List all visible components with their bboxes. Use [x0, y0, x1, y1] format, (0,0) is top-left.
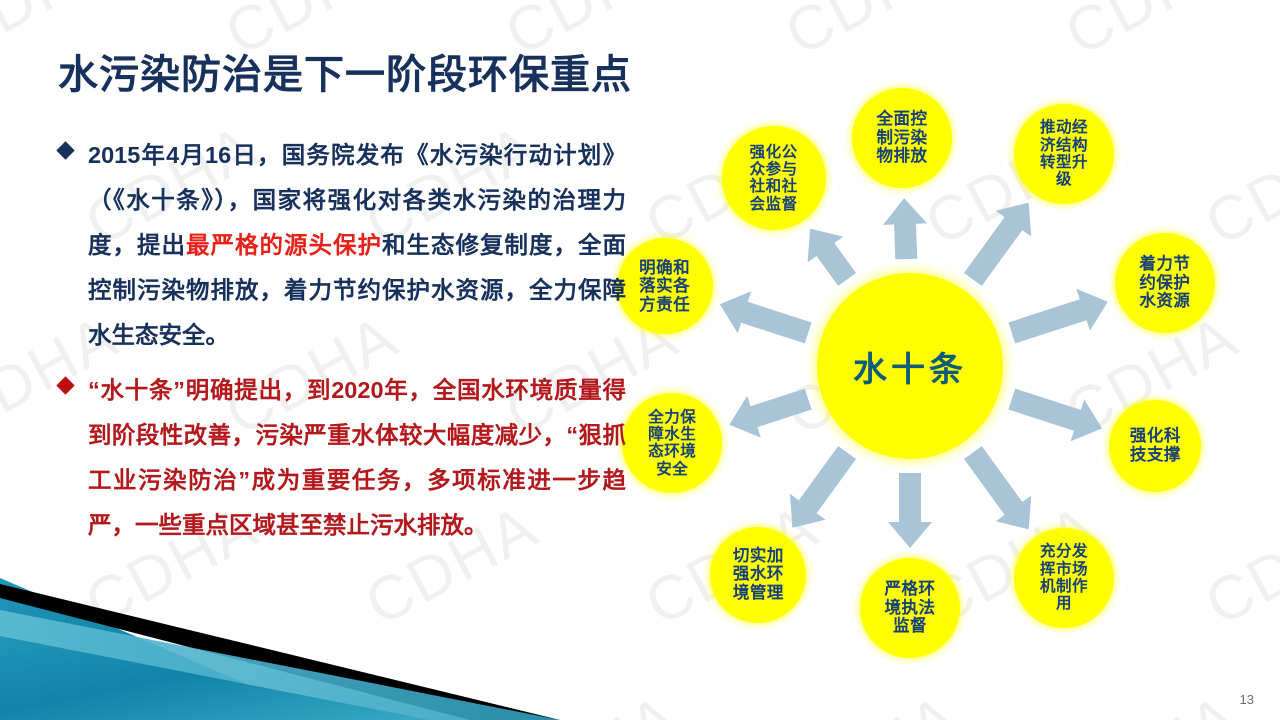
diagram-node-label-line: 水资源: [1135, 292, 1194, 310]
diagram-node-label-line: 落实各: [635, 277, 694, 295]
diagram-node-label-line: 着力节: [1135, 255, 1194, 273]
diagram-node-label-line: 社和社: [746, 178, 802, 195]
body-text-column: 2015年4月16日，国务院发布《水污染行动计划》（《水十条》），国家将强化对各…: [56, 133, 626, 558]
diagram-node-label-line: 挥市场: [1036, 561, 1092, 578]
radial-arrow-icon: [808, 229, 856, 286]
watermark-text: CDHA: [214, 681, 410, 720]
diagram-center-node: 水十条: [817, 273, 1003, 459]
diagram-node-label-line: 充分发: [1036, 543, 1092, 560]
page-title: 水污染防治是下一阶段环保重点: [58, 42, 632, 100]
diagram-node-label-line: 级: [1036, 171, 1092, 188]
diagram-node-label-line: 切实加: [729, 547, 788, 565]
radial-arrow-icon: [1008, 289, 1107, 344]
diagram-node-5[interactable]: 充分发挥市场机制作用: [1014, 528, 1114, 628]
bullet-item-1: 2015年4月16日，国务院发布《水污染行动计划》（《水十条》），国家将强化对各…: [56, 133, 626, 358]
bullet-item-2: “水十条”明确提出，到2020年，全国水环境质量得到阶段性改善，污染严重水体较大…: [56, 368, 626, 548]
radial-arrow-icon: [729, 389, 811, 438]
watermark-text: CDHA: [1054, 681, 1250, 720]
radial-arrow-icon: [964, 203, 1031, 286]
diagram-node-label-line: 约保护: [1135, 274, 1194, 292]
diagram-node-label: 强化科技支撑: [1126, 427, 1185, 464]
diagram-node-label: 全力保障水生态环境安全: [644, 409, 700, 478]
bullet-paragraph-1: 2015年4月16日，国务院发布《水污染行动计划》（《水十条》），国家将强化对各…: [88, 133, 626, 358]
radial-arrow-icon: [790, 446, 856, 528]
diagram-node-label-line: 安全: [644, 461, 700, 478]
radial-arrow-icon: [888, 473, 932, 548]
diagram-node-label-line: 机制作: [1036, 578, 1092, 595]
diagram-node-label: 切实加强水环境管理: [729, 547, 788, 602]
diagram-node-label-line: 态环境: [644, 443, 700, 460]
bullet-1-segment-2-highlight: 最严格的源头保护: [186, 232, 382, 258]
diagram-node-label: 严格环境执法监督: [881, 580, 940, 635]
diamond-bullet-icon: [56, 141, 74, 159]
diagram-node-3[interactable]: 着力节约保护水资源: [1115, 233, 1215, 333]
diagram-node-label-line: 制污染: [873, 129, 932, 147]
radial-arrow-icon: [1008, 389, 1102, 442]
diagram-node-1[interactable]: 全面控制污染物排放: [852, 88, 952, 188]
diagram-node-label-line: 强化科: [1126, 427, 1185, 445]
diagram-node-label-line: 全力保: [644, 409, 700, 426]
watermark-text: CDHA: [774, 681, 970, 720]
diagram-node-label-line: 推动经: [1036, 119, 1092, 136]
diagram-node-label-line: 会监督: [746, 196, 802, 213]
diagram-node-label-line: 强水环: [729, 565, 788, 583]
diagram-node-6[interactable]: 严格环境执法监督: [860, 558, 960, 658]
diagram-node-label: 充分发挥市场机制作用: [1036, 543, 1092, 612]
diagram-node-label-line: 全面控: [873, 110, 932, 128]
bullet-paragraph-2: “水十条”明确提出，到2020年，全国水环境质量得到阶段性改善，污染严重水体较大…: [88, 368, 626, 548]
diagram-node-4[interactable]: 强化科技支撑: [1109, 400, 1201, 492]
diagram-node-label: 着力节约保护水资源: [1135, 255, 1194, 310]
diagram-node-label-line: 明确和: [635, 259, 694, 277]
radial-arrow-icon: [720, 291, 812, 343]
diagram-node-label-line: 方责任: [635, 296, 694, 314]
diagram-node-label-line: 众参与: [746, 161, 802, 178]
diagram-node-label: 推动经济结构转型升级: [1036, 119, 1092, 188]
diagram-node-label-line: 济结构: [1036, 137, 1092, 154]
diagram-node-label: 明确和落实各方责任: [635, 259, 694, 314]
radial-diagram: 水十条 全面控制污染物排放推动经济结构转型升级着力节约保护水资源强化科技支撑充分…: [620, 58, 1280, 678]
diagram-node-9[interactable]: 明确和落实各方责任: [617, 238, 713, 334]
slide-canvas: CDHACDHACDHACDHACDHACDHACDHACDHACDHACDHA…: [0, 0, 1280, 720]
diagram-node-label-line: 监督: [881, 617, 940, 635]
watermark-text: CDHA: [0, 681, 130, 720]
corner-decoration: [0, 540, 560, 720]
diagram-node-2[interactable]: 推动经济结构转型升级: [1014, 104, 1114, 204]
diagram-node-7[interactable]: 切实加强水环境管理: [710, 527, 806, 623]
diagram-node-label-line: 用: [1036, 595, 1092, 612]
diagram-center-label: 水十条: [853, 342, 967, 391]
diagram-node-label-line: 境执法: [881, 599, 940, 617]
watermark-text: CDHA: [494, 681, 690, 720]
diagram-node-label-line: 严格环: [881, 580, 940, 598]
diamond-bullet-icon: [56, 376, 74, 394]
diagram-node-label-line: 转型升: [1036, 154, 1092, 171]
radial-arrow-icon: [964, 446, 1031, 529]
diagram-node-label-line: 强化公: [746, 144, 802, 161]
diagram-node-label-line: 障水生: [644, 426, 700, 443]
diagram-node-label: 强化公众参与社和社会监督: [746, 144, 802, 213]
bullet-2-segment-1: “水十条”明确提出，到2020年，全国水环境质量得到阶段性改善，污染严重水体较大…: [88, 377, 626, 538]
page-number: 13: [1240, 692, 1254, 707]
diagram-node-10[interactable]: 强化公众参与社和社会监督: [722, 126, 826, 230]
diagram-node-8[interactable]: 全力保障水生态环境安全: [622, 393, 722, 493]
diagram-node-label-line: 境管理: [729, 584, 788, 602]
diagram-node-label-line: 技支撑: [1126, 446, 1185, 464]
diagram-node-label-line: 物排放: [873, 147, 932, 165]
diagram-node-label: 全面控制污染物排放: [873, 110, 932, 165]
radial-arrow-icon: [883, 198, 927, 259]
